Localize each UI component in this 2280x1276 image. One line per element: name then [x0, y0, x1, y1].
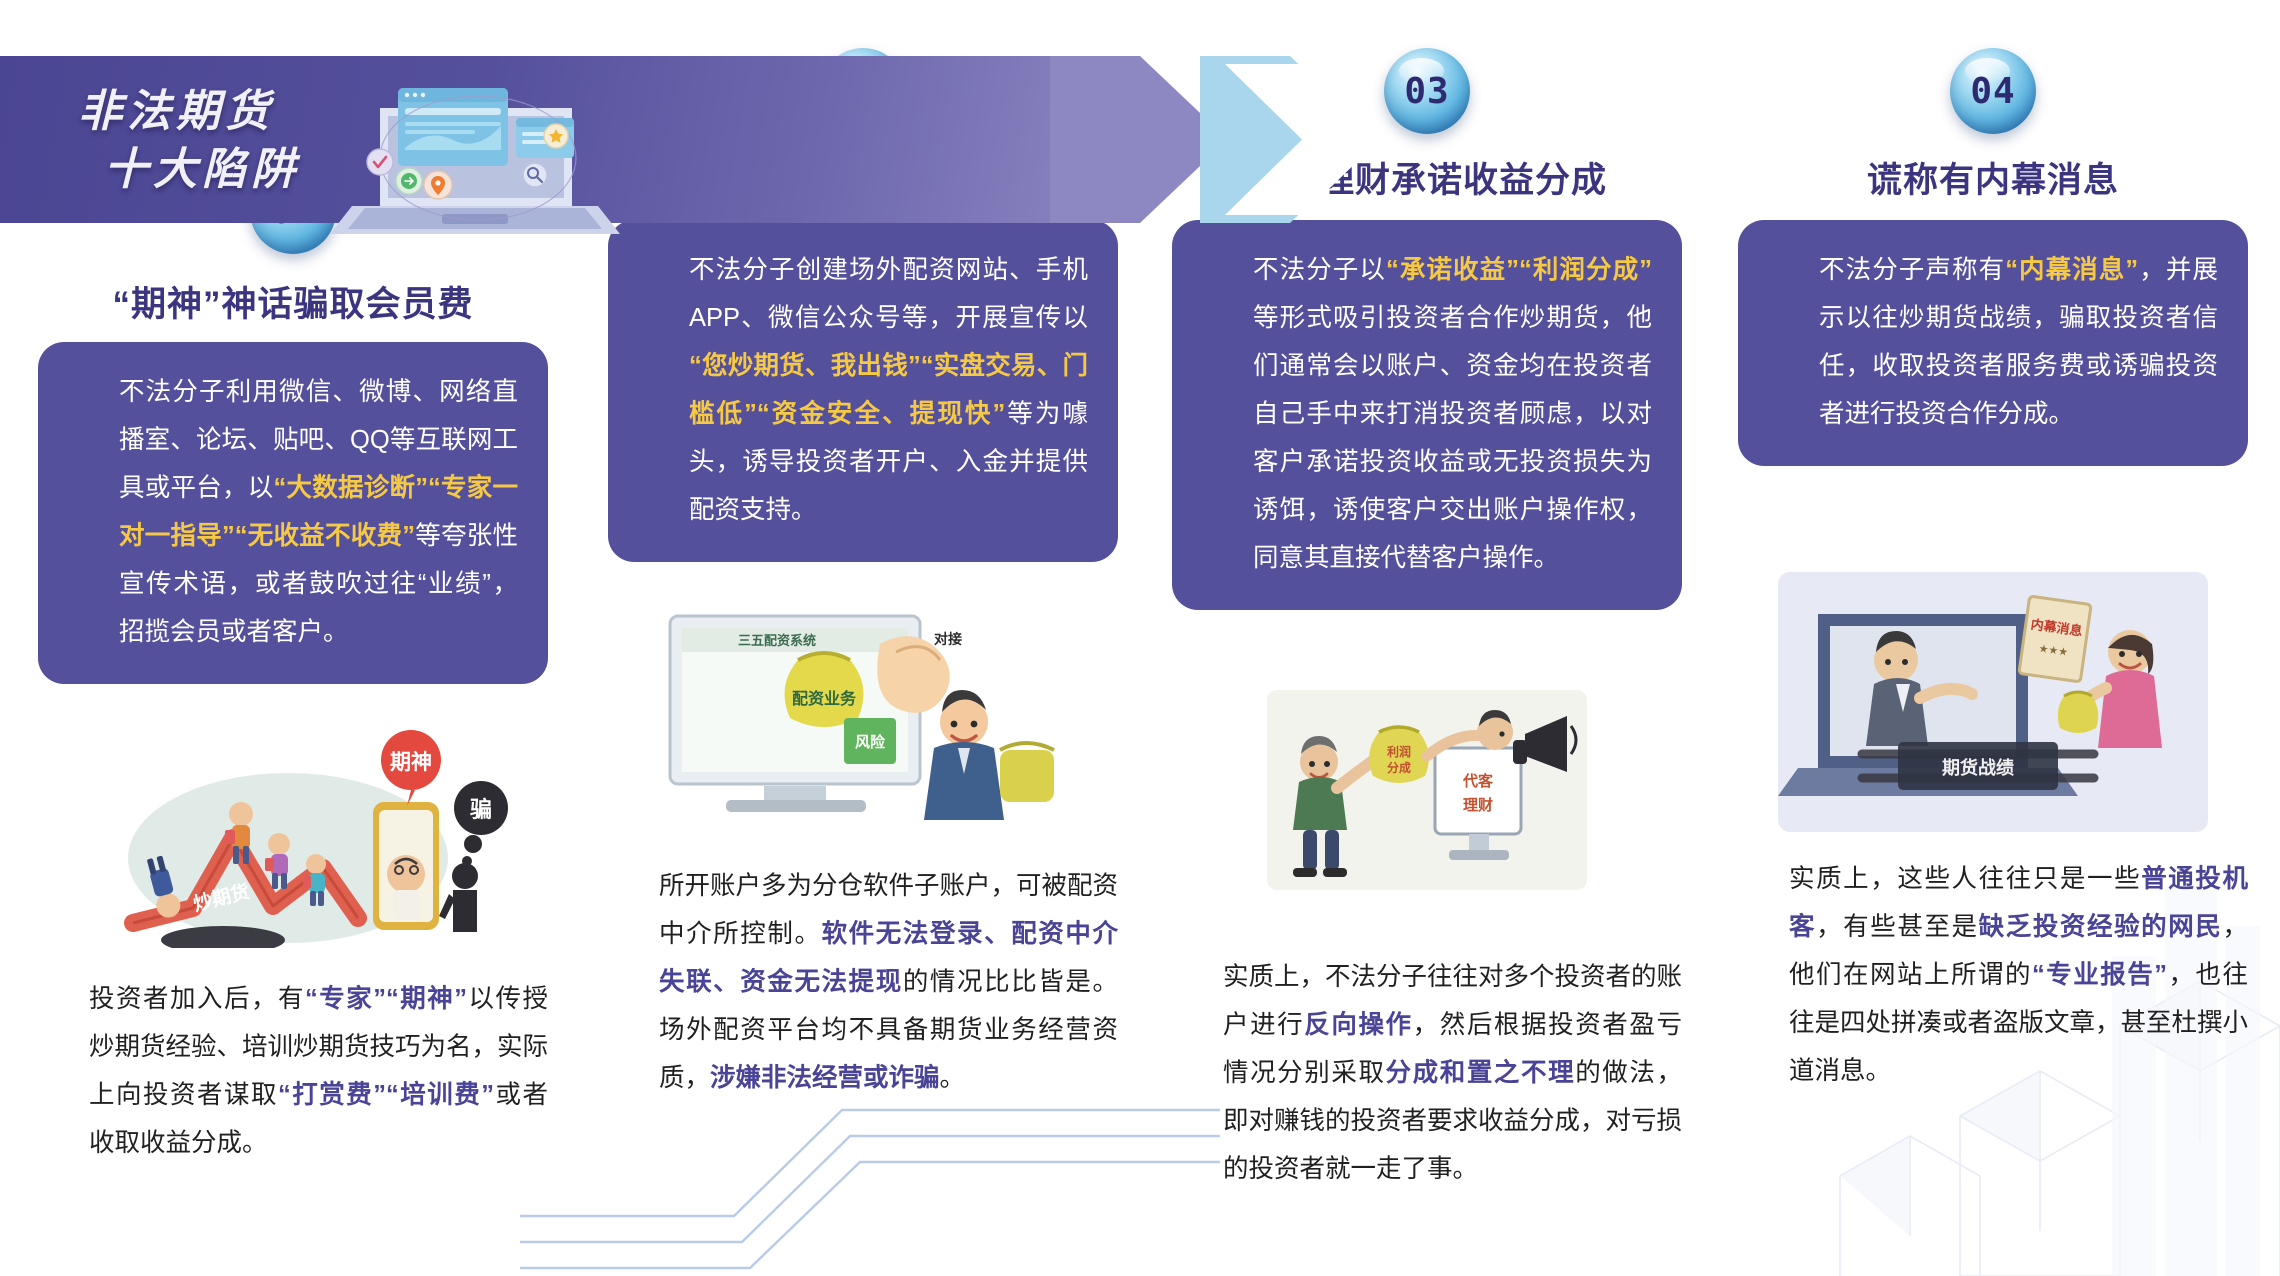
caption-4-text-a: 实质上，这些人往往只是一些 — [1789, 865, 2141, 893]
panel-4-highlight: “内幕消息” — [2005, 256, 2138, 284]
section-column-4: 04 谎称有内幕消息 不法分子声称有“内幕消息”，并展示以往炒期货战绩，骗取投资… — [1738, 0, 2248, 1276]
illus-label-qishen: 期神 — [390, 750, 432, 774]
illus-label-profit-share-1: 利润 — [1387, 744, 1411, 759]
panel-2-text-a: 不法分子创建场外配资网站、手机APP、微信公众号等，开展宣传以 — [689, 256, 1088, 332]
caption-4: 实质上，这些人往往只是一些普通投机客，有些甚至是缺乏投资经验的网民，他们在网站上… — [1738, 855, 2248, 1095]
illus-label-profit-share-2: 分成 — [1387, 760, 1411, 775]
illus-label-system: 三五配资系统 — [738, 633, 816, 648]
banner-title: 非法期货 十大陷阱 — [78, 83, 508, 199]
caption-4-highlight-c: “专业报告” — [2032, 961, 2167, 989]
caption-3-highlight-a: 反向操作 — [1304, 1011, 1412, 1039]
caption-1-highlight-a: “专家”“期神” — [305, 985, 467, 1013]
step-number: 04 — [1970, 71, 2015, 112]
illus-label-duijie: 对接 — [934, 631, 962, 647]
caption-1: 投资者加入后，有“专家”“期神”以传授炒期货经验、培训炒期货技巧为名，实际上向投… — [38, 975, 548, 1167]
caption-4-text-b: ，有些甚至是 — [1816, 913, 1979, 941]
illus-label-licai: 理财 — [1463, 796, 1493, 814]
illus-label-business: 配资业务 — [792, 689, 857, 708]
illus-label-futures-record: 期货战绩 — [1942, 757, 2014, 778]
caption-3-highlight-b: 分成和置之不理 — [1386, 1059, 1576, 1087]
illus-label-risk: 风险 — [855, 733, 886, 751]
header-banner: 非法期货 十大陷阱 — [0, 56, 1590, 223]
wealth-management-handshake-cartoon: 利润 分成 代客 理财 — [1267, 690, 1587, 890]
section-title-1: “期神”神话骗取会员费 — [38, 276, 548, 327]
caption-2: 所开账户多为分仓软件子账户，可被配资中介所控制。软件无法登录、配资中介失联、资金… — [608, 862, 1118, 1102]
caption-3: 实质上，不法分子往往对多个投资者的账户进行反向操作，然后根据投资者盈亏情况分别采… — [1172, 953, 1682, 1193]
illus-label-pian: 骗 — [470, 797, 492, 822]
caption-2-highlight-b: 涉嫌非法经营或诈骗 — [710, 1064, 940, 1092]
margin-financing-screen-cartoon: 三五配资系统 配资业务 对接 风险 — [648, 600, 1078, 830]
panel-4-text-a: 不法分子声称有 — [1819, 256, 2005, 284]
section-title-4: 谎称有内幕消息 — [1738, 152, 2248, 203]
insider-news-laptop-cartoon: 内幕消息 ★★★ — [1778, 572, 2208, 832]
step-badge-04: 04 — [1950, 48, 2036, 134]
illus-label-daike: 代客 — [1462, 772, 1494, 790]
panel-2: 不法分子创建场外配资网站、手机APP、微信公众号等，开展宣传以“您炒期货、我出钱… — [608, 220, 1118, 562]
caption-4-highlight-b: 缺乏投资经验的网民 — [1979, 913, 2223, 941]
poster-root: 非法期货 十大陷阱 01 “期神”神话骗取会员费 不法分子利用微信、微博、网络直… — [0, 0, 2280, 1276]
panel-3: 不法分子以“承诺收益”“利润分成”等形式吸引投资者合作炒期货，他们通常会以账户、… — [1172, 220, 1682, 610]
banner-arrow-icon — [1050, 56, 1470, 223]
banner-title-line2: 十大陷阱 — [78, 141, 508, 199]
caption-1-highlight-b: “打赏费”“培训费” — [278, 1081, 494, 1109]
panel-1: 不法分子利用微信、微博、网络直播室、论坛、贴吧、QQ等互联网工具或平台，以“大数… — [38, 342, 548, 684]
caption-1-text-a: 投资者加入后，有 — [89, 985, 305, 1013]
panel-3-text-b: 等形式吸引投资者合作炒期货，他们通常会以账户、资金均在投资者自己手中来打消投资者… — [1253, 304, 1652, 572]
panel-4: 不法分子声称有“内幕消息”，并展示以往炒期货战绩，骗取投资者信任，收取投资者服务… — [1738, 220, 2248, 466]
panel-3-highlight: “承诺收益”“利润分成” — [1386, 256, 1652, 284]
banner-title-line1: 非法期货 — [78, 87, 274, 136]
panel-3-text-a: 不法分子以 — [1253, 256, 1386, 284]
caption-2-text-c: 。 — [940, 1064, 966, 1092]
stock-chart-guru-cartoon: 炒期货 — [73, 718, 513, 948]
